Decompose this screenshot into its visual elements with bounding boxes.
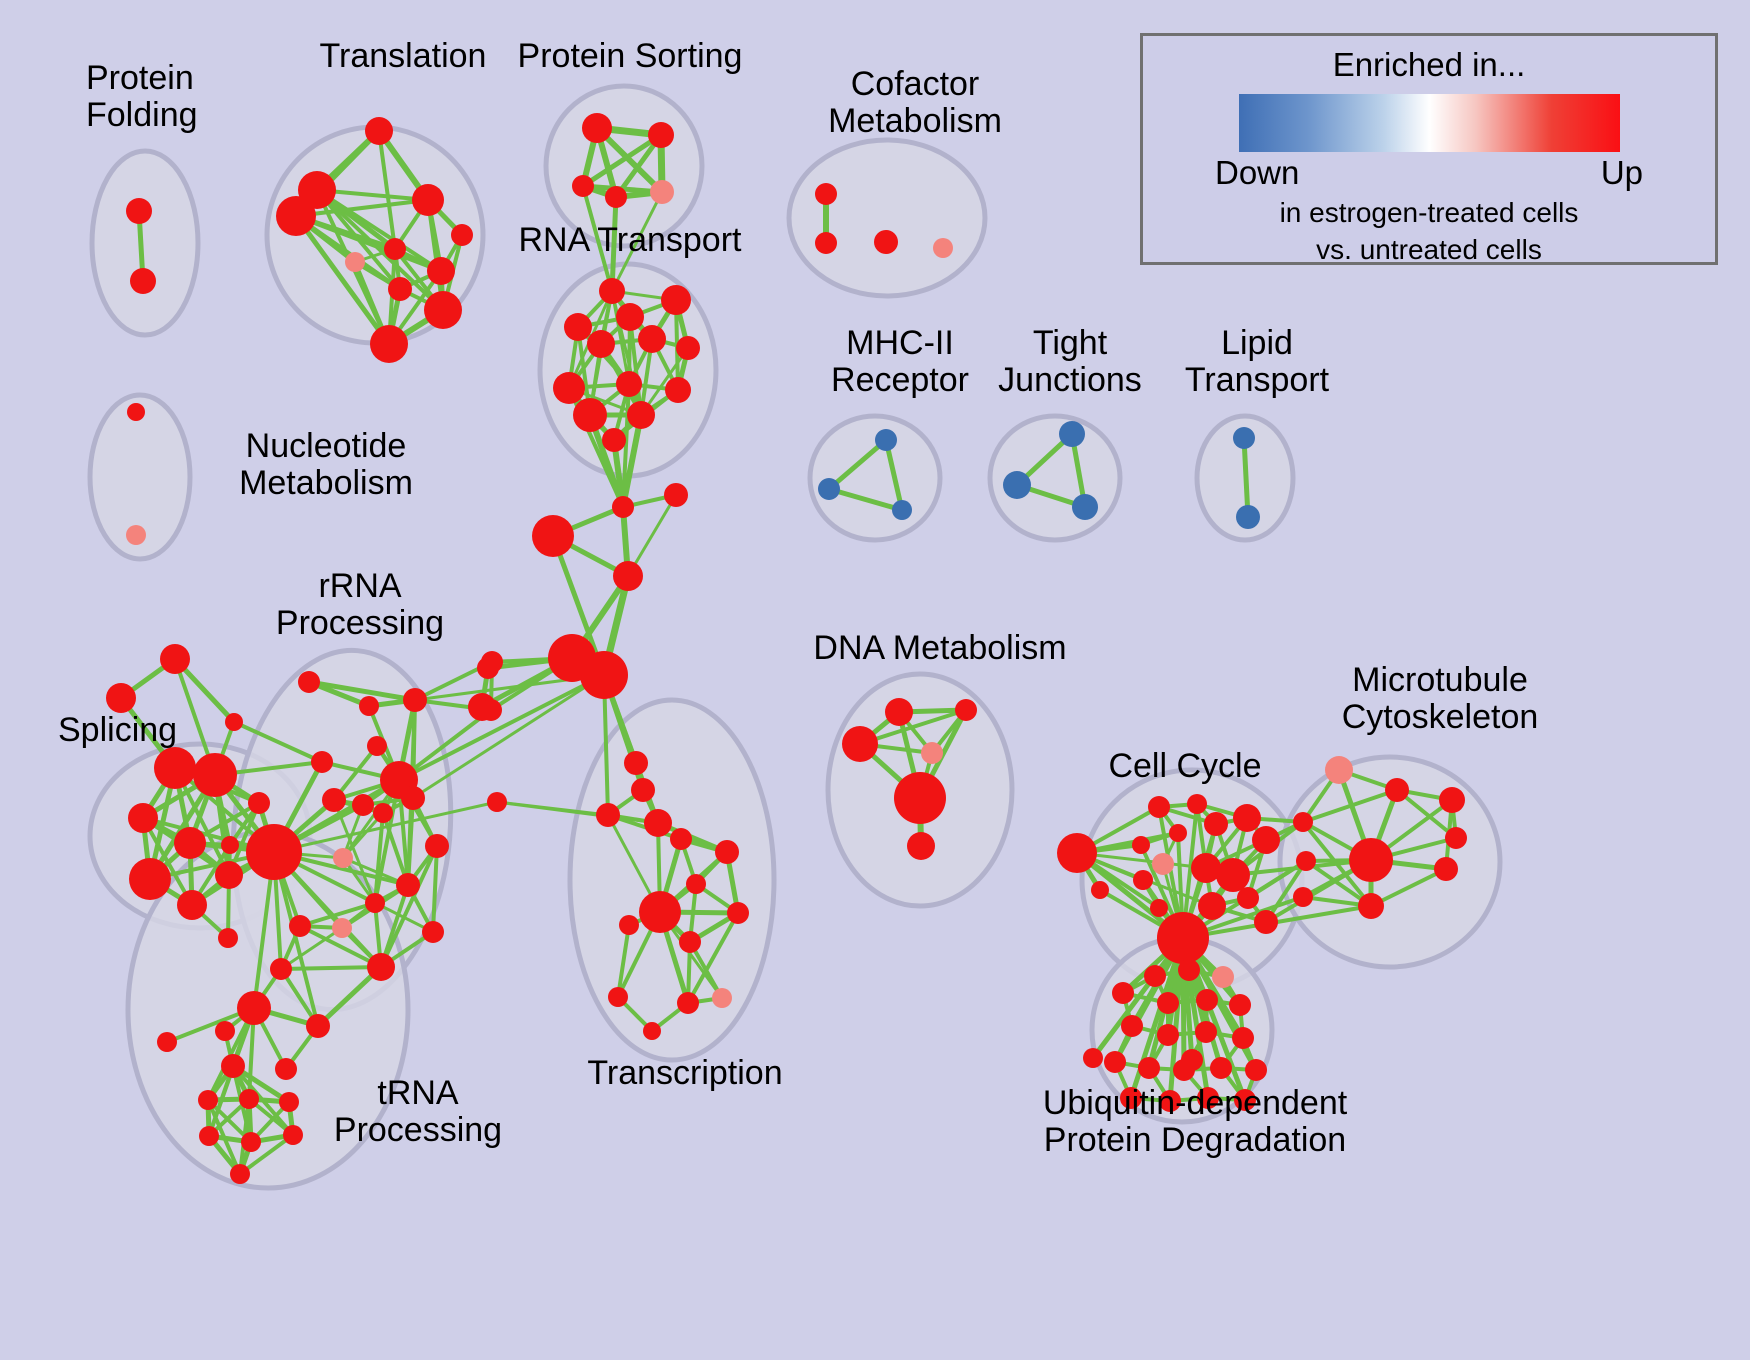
transcription-ellipse [570, 700, 774, 1060]
network-node[interactable] [248, 792, 270, 814]
network-node[interactable] [177, 890, 207, 920]
cluster-label-splicing: Splicing [58, 712, 238, 749]
network-node[interactable] [875, 429, 897, 451]
network-node[interactable] [365, 117, 393, 145]
network-node[interactable] [573, 398, 607, 432]
legend-title: Enriched in... [1143, 46, 1715, 84]
network-node[interactable] [582, 113, 612, 143]
network-node[interactable] [907, 832, 935, 860]
legend-caption-line-1: in estrogen-treated cells [1143, 196, 1715, 229]
legend-high-label: Up [1601, 154, 1643, 192]
network-node[interactable] [1003, 471, 1031, 499]
network-node[interactable] [130, 268, 156, 294]
network-node[interactable] [648, 122, 674, 148]
network-node[interactable] [1212, 966, 1234, 988]
network-node[interactable] [892, 500, 912, 520]
network-node[interactable] [451, 224, 473, 246]
network-node[interactable] [1072, 494, 1098, 520]
network-node[interactable] [612, 496, 634, 518]
network-node[interactable] [727, 902, 749, 924]
network-node[interactable] [1233, 804, 1261, 832]
network-node[interactable] [1254, 910, 1278, 934]
network-node[interactable] [564, 313, 592, 341]
network-node[interactable] [624, 751, 648, 775]
network-node[interactable] [587, 330, 615, 358]
network-node[interactable] [106, 683, 136, 713]
network-node[interactable] [1236, 505, 1260, 529]
network-node[interactable] [639, 891, 681, 933]
network-node[interactable] [1325, 756, 1353, 784]
network-node[interactable] [1349, 838, 1393, 882]
cluster-label-protein-folding: Protein Folding [86, 60, 276, 133]
network-node[interactable] [715, 840, 739, 864]
network-node[interactable] [373, 803, 393, 823]
network-node[interactable] [605, 186, 627, 208]
network-node[interactable] [241, 1132, 261, 1152]
network-node[interactable] [933, 238, 953, 258]
network-node[interactable] [1434, 857, 1458, 881]
network-node[interactable] [283, 1125, 303, 1145]
network-node[interactable] [298, 671, 320, 693]
network-node[interactable] [643, 1022, 661, 1040]
network-node[interactable] [388, 277, 412, 301]
network-node[interactable] [1148, 796, 1170, 818]
network-node[interactable] [613, 561, 643, 591]
network-node[interactable] [221, 1054, 245, 1078]
network-node[interactable] [885, 698, 913, 726]
cluster-label-trna-processing: tRNA Processing [308, 1075, 528, 1148]
network-node[interactable] [1059, 421, 1085, 447]
network-node[interactable] [1157, 1024, 1179, 1046]
legend-caption-line-2: vs. untreated cells [1143, 233, 1715, 266]
network-node[interactable] [1083, 1048, 1103, 1068]
network-node[interactable] [127, 403, 145, 421]
network-node[interactable] [215, 861, 243, 889]
network-node[interactable] [193, 753, 237, 797]
network-node[interactable] [842, 726, 878, 762]
cluster-label-protein-sorting: Protein Sorting [500, 38, 760, 75]
network-node[interactable] [532, 515, 574, 557]
network-node[interactable] [126, 198, 152, 224]
network-node[interactable] [644, 809, 672, 837]
network-node[interactable] [1157, 992, 1179, 1014]
network-node[interactable] [332, 918, 352, 938]
network-node[interactable] [1133, 870, 1153, 890]
network-node[interactable] [1210, 1057, 1232, 1079]
legend-low-label: Down [1215, 154, 1299, 192]
network-node[interactable] [616, 303, 644, 331]
network-node[interactable] [218, 928, 238, 948]
network-node[interactable] [1293, 887, 1313, 907]
cluster-label-nucleotide-metabolism: Nucleotide Metabolism [196, 428, 456, 501]
network-node[interactable] [367, 736, 387, 756]
network-node[interactable] [638, 325, 666, 353]
network-node[interactable] [1157, 912, 1209, 964]
network-node[interactable] [480, 699, 502, 721]
network-node[interactable] [665, 377, 691, 403]
network-node[interactable] [424, 291, 462, 329]
network-node[interactable] [1296, 851, 1316, 871]
network-node[interactable] [921, 742, 943, 764]
network-node[interactable] [1252, 826, 1280, 854]
network-node[interactable] [1233, 427, 1255, 449]
network-node[interactable] [679, 931, 701, 953]
cluster-label-rna-transport: RNA Transport [500, 222, 760, 259]
network-node[interactable] [311, 751, 333, 773]
network-node[interactable] [661, 285, 691, 315]
network-node[interactable] [553, 372, 585, 404]
network-node[interactable] [1178, 959, 1200, 981]
network-node[interactable] [359, 696, 379, 716]
cluster-label-cell-cycle: Cell Cycle [1085, 748, 1285, 785]
network-node[interactable] [370, 325, 408, 363]
network-node[interactable] [1091, 881, 1109, 899]
network-node[interactable] [198, 1090, 218, 1110]
network-node[interactable] [686, 874, 706, 894]
network-node[interactable] [608, 987, 628, 1007]
cluster-label-tight-junctions: Tight Junctions [965, 325, 1175, 398]
network-node[interactable] [1152, 853, 1174, 875]
network-node[interactable] [237, 991, 271, 1025]
network-node[interactable] [1385, 778, 1409, 802]
network-node[interactable] [1229, 994, 1251, 1016]
network-node[interactable] [128, 803, 158, 833]
network-node[interactable] [422, 921, 444, 943]
network-node[interactable] [1112, 982, 1134, 1004]
network-node[interactable] [1439, 787, 1465, 813]
network-node[interactable] [199, 1126, 219, 1146]
network-node[interactable] [815, 183, 837, 205]
network-node[interactable] [894, 772, 946, 824]
network-node[interactable] [712, 988, 732, 1008]
network-node[interactable] [676, 336, 700, 360]
network-node[interactable] [619, 915, 639, 935]
network-node[interactable] [230, 1164, 250, 1184]
cluster-label-ubiquitin-degradation: Ubiquitin-dependent Protein Degradation [995, 1085, 1395, 1158]
network-node[interactable] [818, 478, 840, 500]
network-node[interactable] [874, 230, 898, 254]
network-node[interactable] [1195, 1021, 1217, 1043]
cluster-label-dna-metabolism: DNA Metabolism [795, 630, 1085, 667]
network-node[interactable] [365, 893, 385, 913]
network-node[interactable] [1144, 965, 1166, 987]
cluster-label-transcription: Transcription [560, 1055, 810, 1092]
network-node[interactable] [367, 953, 395, 981]
network-node[interactable] [664, 483, 688, 507]
network-node[interactable] [650, 180, 674, 204]
network-node[interactable] [1237, 887, 1259, 909]
network-edge [281, 967, 381, 969]
network-node[interactable] [352, 794, 374, 816]
network-node[interactable] [129, 858, 171, 900]
network-node[interactable] [276, 196, 316, 236]
network-node[interactable] [270, 958, 292, 980]
network-node[interactable] [1232, 1027, 1254, 1049]
network-node[interactable] [677, 992, 699, 1014]
network-node[interactable] [1138, 1057, 1160, 1079]
network-node[interactable] [306, 1014, 330, 1038]
mhc-ii-ellipse [810, 416, 940, 540]
network-node[interactable] [221, 836, 239, 854]
network-node[interactable] [599, 278, 625, 304]
network-node[interactable] [1198, 892, 1226, 920]
legend-box: Enriched in... Down Up in estrogen-treat… [1140, 33, 1718, 265]
network-node[interactable] [616, 371, 642, 397]
cluster-label-lipid-transport: Lipid Transport [1152, 325, 1362, 398]
network-node[interactable] [627, 401, 655, 429]
network-node[interactable] [289, 915, 311, 937]
network-node[interactable] [1132, 836, 1150, 854]
network-node[interactable] [481, 651, 503, 673]
network-node[interactable] [333, 848, 353, 868]
network-node[interactable] [239, 1089, 259, 1109]
network-node[interactable] [425, 834, 449, 858]
network-node[interactable] [1169, 824, 1187, 842]
network-node[interactable] [412, 184, 444, 216]
protein-folding-ellipse [92, 151, 198, 335]
network-node[interactable] [322, 788, 346, 812]
network-node[interactable] [345, 252, 365, 272]
network-node[interactable] [1196, 989, 1218, 1011]
network-node[interactable] [1216, 858, 1250, 892]
cluster-label-rrna-processing: rRNA Processing [245, 568, 475, 641]
network-node[interactable] [602, 428, 626, 452]
network-node[interactable] [384, 238, 406, 260]
network-node[interactable] [279, 1092, 299, 1112]
network-node[interactable] [1445, 827, 1467, 849]
network-node[interactable] [815, 232, 837, 254]
network-node[interactable] [275, 1058, 297, 1080]
network-node[interactable] [1187, 794, 1207, 814]
network-node[interactable] [955, 699, 977, 721]
network-node[interactable] [1150, 899, 1168, 917]
network-node[interactable] [487, 792, 507, 812]
cluster-label-microtubule-cytoskeleton: Microtubule Cytoskeleton [1290, 662, 1590, 735]
network-node[interactable] [1293, 812, 1313, 832]
network-figure: Protein FoldingTranslationProtein Sortin… [0, 0, 1750, 1360]
cluster-label-cofactor-metabolism: Cofactor Metabolism [790, 66, 1040, 139]
network-node[interactable] [1204, 812, 1228, 836]
network-node[interactable] [1104, 1051, 1126, 1073]
network-node[interactable] [1121, 1015, 1143, 1037]
network-node[interactable] [126, 525, 146, 545]
network-node[interactable] [154, 747, 196, 789]
network-node[interactable] [1358, 893, 1384, 919]
network-node[interactable] [160, 644, 190, 674]
network-node[interactable] [157, 1032, 177, 1052]
network-node[interactable] [670, 828, 692, 850]
network-node[interactable] [1173, 1059, 1195, 1081]
network-node[interactable] [396, 873, 420, 897]
network-node[interactable] [1057, 833, 1097, 873]
network-node[interactable] [596, 803, 620, 827]
cluster-label-translation: Translation [288, 38, 518, 75]
cofactor-ellipse [789, 140, 985, 296]
network-node[interactable] [215, 1021, 235, 1041]
network-node[interactable] [572, 175, 594, 197]
network-node[interactable] [246, 824, 302, 880]
network-node[interactable] [1245, 1059, 1267, 1081]
network-node[interactable] [174, 827, 206, 859]
network-node[interactable] [403, 688, 427, 712]
legend-color-gradient-bar [1239, 94, 1620, 152]
network-node[interactable] [427, 257, 455, 285]
network-node[interactable] [631, 778, 655, 802]
network-node[interactable] [401, 786, 425, 810]
network-node[interactable] [580, 651, 628, 699]
